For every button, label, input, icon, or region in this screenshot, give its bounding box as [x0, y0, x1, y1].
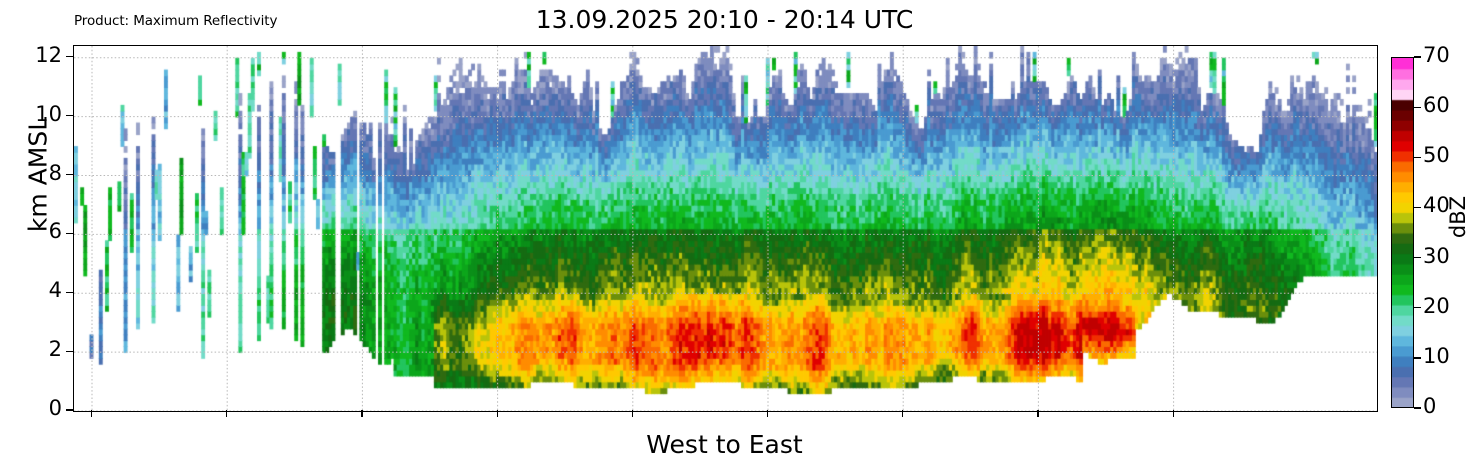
- plot-area: [73, 45, 1378, 412]
- x-tick-mark: [1037, 410, 1038, 417]
- x-tick-mark: [1173, 410, 1174, 417]
- colorbar-tick-label: 20: [1423, 294, 1450, 318]
- y-tick-label: 2: [0, 337, 62, 361]
- colorbar-tick-mark: [1414, 207, 1421, 208]
- colorbar-tick-mark: [1414, 56, 1421, 57]
- x-axis-label: West to East: [73, 430, 1376, 459]
- x-tick-mark: [361, 410, 362, 417]
- y-tick-label: 0: [0, 396, 62, 420]
- y-tick-label: 10: [0, 102, 62, 126]
- y-tick-mark: [66, 174, 73, 175]
- colorbar-tick-mark: [1414, 257, 1421, 258]
- colorbar-tick-mark: [1414, 107, 1421, 108]
- y-tick-mark: [66, 351, 73, 352]
- y-tick-label: 4: [0, 278, 62, 302]
- y-tick-label: 12: [0, 43, 62, 67]
- x-tick-mark: [902, 410, 903, 417]
- x-tick-mark: [91, 410, 92, 417]
- colorbar-tick-mark: [1414, 407, 1421, 408]
- colorbar-tick-label: 70: [1423, 43, 1450, 67]
- x-tick-mark: [767, 410, 768, 417]
- page-title: 13.09.2025 20:10 - 20:14 UTC: [73, 5, 1376, 34]
- colorbar-tick-label: 10: [1423, 344, 1450, 368]
- y-tick-mark: [66, 56, 73, 57]
- x-tick-mark: [497, 410, 498, 417]
- x-tick-mark: [632, 410, 633, 417]
- radar-cross-section-figure: Product: Maximum Reflectivity 13.09.2025…: [0, 0, 1482, 470]
- colorbar-tick-label: 60: [1423, 93, 1450, 117]
- colorbar-tick-mark: [1414, 307, 1421, 308]
- colorbar-unit-label: dBZ: [1446, 157, 1470, 277]
- y-tick-mark: [66, 292, 73, 293]
- colorbar-tick-label: 0: [1423, 394, 1436, 418]
- colorbar: [1391, 57, 1414, 408]
- y-tick-label: 6: [0, 219, 62, 243]
- y-tick-mark: [66, 409, 73, 410]
- y-tick-label: 8: [0, 161, 62, 185]
- y-tick-mark: [66, 233, 73, 234]
- colorbar-gradient: [1391, 57, 1414, 408]
- colorbar-tick-mark: [1414, 357, 1421, 358]
- colorbar-tick-mark: [1414, 157, 1421, 158]
- reflectivity-heatmap-canvas: [74, 46, 1377, 411]
- x-tick-mark: [226, 410, 227, 417]
- y-tick-mark: [66, 115, 73, 116]
